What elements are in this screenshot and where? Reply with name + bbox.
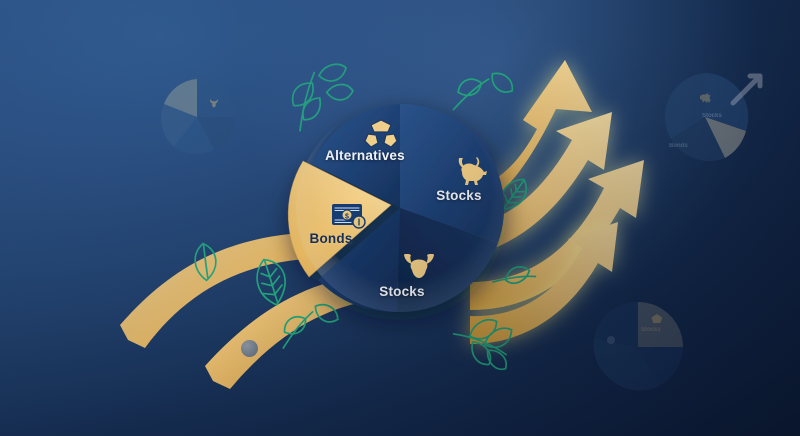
pie-label-bonds: Bonds xyxy=(310,231,353,246)
decorative-dot xyxy=(241,340,258,357)
pie-label-stocks-1: Stocks xyxy=(436,188,481,203)
pie-label-stocks-2: Stocks xyxy=(379,284,424,299)
illustration-canvas: Stocks Bonds Stocks xyxy=(0,0,800,436)
pie-labels-group: Alternatives Stocks Stocks xyxy=(0,0,800,436)
pie-label-alternatives: Alternatives xyxy=(325,148,405,163)
svg-text:$: $ xyxy=(345,213,349,220)
